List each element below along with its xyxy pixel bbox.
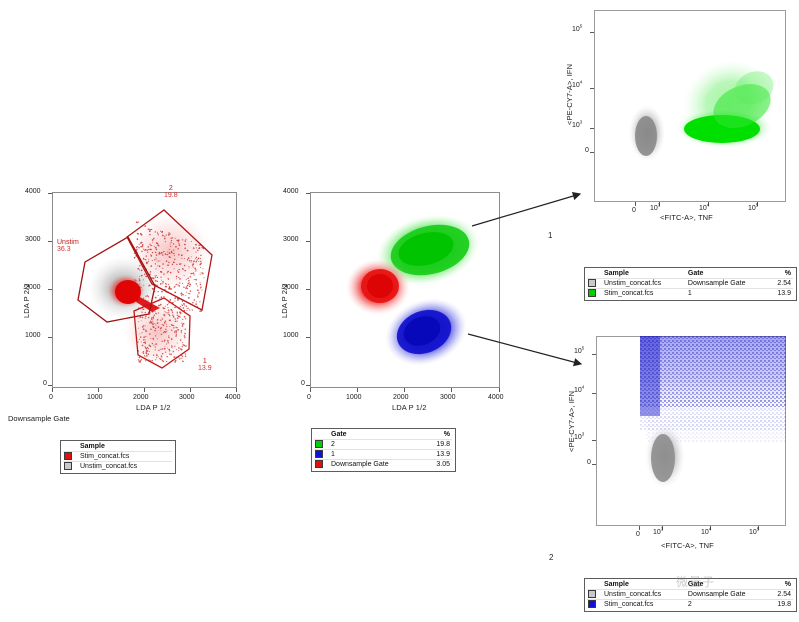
mid-ytick-0 (306, 385, 310, 386)
tr-legend-gate-stim: 1 (686, 289, 770, 299)
mid-xtick-4000 (499, 388, 500, 392)
br-legend-pct-stim: 19.8 (770, 600, 793, 610)
left-xtick-3000 (190, 388, 191, 392)
tr-xtick-0 (635, 202, 636, 206)
tr-legend-sample-unstim: Unstim_concat.fcs (602, 279, 686, 289)
left-ytick-3000 (48, 241, 52, 242)
mid-legend-swatch-gate1 (314, 450, 329, 460)
topright-plot-svg (594, 10, 786, 202)
br-legend-swatch-stim (587, 600, 602, 610)
left-legend-swatch-stim (63, 452, 78, 462)
mid-legend-gate-downsample: Downsample Gate (329, 460, 426, 470)
tr-xlabel-1e4: 104 (699, 205, 709, 212)
table-row[interactable]: 1 13.9 (314, 450, 452, 460)
br-legend-gate-unstim: Downsample Gate (686, 590, 770, 600)
left-gate-label-1: 1 13.9 (198, 358, 212, 373)
left-xlabel-4000: 4000 (225, 394, 241, 401)
left-legend-swatch-header (63, 443, 78, 452)
mid-ytick-1000 (306, 337, 310, 338)
left-ytick-1000 (48, 337, 52, 338)
left-xlabel-0: 0 (49, 394, 53, 401)
mid-xlabel-2000: 2000 (393, 394, 409, 401)
mid-legend-gate2: 2 (329, 440, 426, 450)
topright-x-axis-title: <FITC-A>, TNF (660, 213, 713, 222)
tr-ylabel-0: 0 (585, 147, 589, 154)
middle-scatter-plot[interactable]: 4000 3000 2000 1000 0 0 1000 2000 3000 4… (310, 192, 500, 388)
bottomright-scatter-plot[interactable]: 105 104 103 0 0 103 104 105 (596, 336, 786, 526)
mid-legend-pct-header: % (426, 431, 452, 440)
tr-legend-pct-unstim: 2.54 (770, 279, 793, 289)
left-legend[interactable]: Sample Stim_concat.fcs Unstim_concat.fcs (60, 440, 176, 474)
br-legend-sample-unstim: Unstim_concat.fcs (602, 590, 686, 600)
mid-ylabel-0: 0 (301, 380, 305, 387)
tr-legend-pct-header: % (770, 270, 793, 279)
tr-legend-swatch-unstim (587, 279, 602, 289)
br-xlabel-0: 0 (636, 531, 640, 538)
left-ylabel-4000: 4000 (25, 188, 41, 195)
tr-ytick-1e4 (590, 88, 594, 89)
left-ylabel-1000: 1000 (25, 332, 41, 339)
left-gate2-pct: 19.8 (164, 192, 178, 199)
br-ylabel-1e5: 105 (574, 348, 584, 355)
mid-xtick-1000 (357, 388, 358, 392)
br-legend-swatch-unstim (587, 590, 602, 600)
tr-legend-swatch-stim (587, 289, 602, 299)
mid-ytick-2000 (306, 289, 310, 290)
tr-legend-gate-unstim: Downsample Gate (686, 279, 770, 289)
br-xtick-0 (639, 526, 640, 530)
middle-plot-svg (310, 192, 500, 388)
tr-xlabel-1e5: 105 (748, 205, 758, 212)
br-xlabel-1e5: 105 (749, 529, 759, 536)
mid-ytick-3000 (306, 241, 310, 242)
bottomright-legend[interactable]: Sample Gate % Unstim_concat.fcs Downsamp… (584, 578, 797, 612)
left-legend-label-stim: Stim_concat.fcs (78, 452, 172, 462)
tr-legend-sample-header: Sample (602, 270, 686, 279)
left-plot-caption: Downsample Gate (8, 414, 70, 423)
left-gate-unstim-name: Unstim (57, 239, 79, 246)
bottomright-plot-canvas (596, 336, 786, 526)
left-gate-label-2: 2 19.8 (164, 185, 178, 200)
br-ytick-1e3 (592, 440, 596, 441)
left-ytick-4000 (48, 193, 52, 194)
left-ylabel-0: 0 (43, 380, 47, 387)
left-xlabel-3000: 3000 (179, 394, 195, 401)
bottomright-plot-svg (596, 336, 786, 526)
middle-x-axis-title: LDA P 1/2 (392, 403, 427, 412)
bottomright-x-axis-title: <FITC-A>, TNF (661, 541, 714, 550)
mid-legend-gate1: 1 (329, 450, 426, 460)
mid-legend-pct2: 19.8 (426, 440, 452, 450)
mid-legend-gate-header: Gate (329, 431, 426, 440)
br-ytick-1e5 (592, 354, 596, 355)
mid-ylabel-4000: 4000 (283, 188, 299, 195)
br-legend-swatch-header (587, 581, 602, 590)
table-row[interactable]: Unstim_concat.fcs Downsample Gate 2.54 (587, 279, 793, 289)
left-xlabel-1000: 1000 (87, 394, 103, 401)
tr-legend-gate-header: Gate (686, 270, 770, 279)
br-legend-gate-stim: 2 (686, 600, 770, 610)
tr-legend-swatch-header (587, 270, 602, 279)
mid-xtick-2000 (404, 388, 405, 392)
left-ylabel-3000: 3000 (25, 236, 41, 243)
topright-scatter-plot[interactable]: 105 104 103 0 0 103 104 105 (594, 10, 786, 202)
table-row[interactable]: Stim_concat.fcs 2 19.8 (587, 600, 793, 610)
left-xtick-1000 (98, 388, 99, 392)
table-row[interactable]: 2 19.8 (314, 440, 452, 450)
br-ytick-0 (592, 464, 596, 465)
left-x-axis-title: LDA P 1/2 (136, 403, 171, 412)
table-row[interactable]: Downsample Gate 3.05 (314, 460, 452, 470)
br-legend-sample-stim: Stim_concat.fcs (602, 600, 686, 610)
table-row[interactable]: Stim_concat.fcs (63, 452, 172, 462)
bottomright-plot-number: 2 (549, 553, 553, 562)
topright-plot-number: 1 (548, 231, 552, 240)
br-xlabel-1e3: 103 (653, 529, 663, 536)
tr-ytick-1e5 (590, 32, 594, 33)
left-gate-label-unstim: Unstim 36.3 (57, 239, 79, 254)
middle-y-axis-title: LDA P 2/2 (280, 283, 289, 318)
left-xtick-2000 (144, 388, 145, 392)
table-row[interactable]: Unstim_concat.fcs (63, 462, 172, 472)
left-y-axis-title: LDA P 2/2 (22, 283, 31, 318)
left-xtick-0 (52, 388, 53, 392)
br-xlabel-1e4: 104 (701, 529, 711, 536)
mid-xtick-0 (310, 388, 311, 392)
mid-ylabel-1000: 1000 (283, 332, 299, 339)
left-scatter-plot[interactable]: 4000 3000 2000 1000 0 0 1000 2000 3000 4… (52, 192, 237, 388)
left-gate1-pct: 13.9 (198, 365, 212, 372)
tr-legend-pct-stim: 13.9 (770, 289, 793, 299)
mid-legend-pct-downsample: 3.05 (426, 460, 452, 470)
br-ylabel-0: 0 (587, 459, 591, 466)
left-ytick-2000 (48, 289, 52, 290)
br-ytick-1e4 (592, 393, 596, 394)
mid-ytick-4000 (306, 193, 310, 194)
mid-xlabel-0: 0 (307, 394, 311, 401)
mid-xlabel-1000: 1000 (346, 394, 362, 401)
mid-legend-swatch-gate2 (314, 440, 329, 450)
br-legend-pct-unstim: 2.54 (770, 590, 793, 600)
tr-ytick-0 (590, 152, 594, 153)
table-row[interactable]: Unstim_concat.fcs Downsample Gate 2.54 (587, 590, 793, 600)
br-legend-gate-header: Gate (686, 581, 770, 590)
br-legend-sample-header: Sample (602, 581, 686, 590)
mid-xlabel-3000: 3000 (440, 394, 456, 401)
left-gate2-name: 2 (164, 185, 178, 192)
left-legend-sample-header: Sample (78, 443, 172, 452)
left-ytick-0 (48, 385, 52, 386)
tr-xlabel-1e3: 103 (650, 205, 660, 212)
tr-ytick-1e3 (590, 128, 594, 129)
topright-y-axis-title: <PE-CY7-A>, IFN (565, 64, 574, 125)
left-xlabel-2000: 2000 (133, 394, 149, 401)
mid-legend-pct1: 13.9 (426, 450, 452, 460)
tr-xlabel-0: 0 (632, 207, 636, 214)
tr-legend-sample-stim: Stim_concat.fcs (602, 289, 686, 299)
mid-legend-swatch-header (314, 431, 329, 440)
tr-ylabel-1e5: 105 (572, 26, 582, 33)
br-legend-pct-header: % (770, 581, 793, 590)
left-gate-unstim-pct: 36.3 (57, 246, 79, 253)
mid-legend-swatch-downsample (314, 460, 329, 470)
table-row[interactable]: Stim_concat.fcs 1 13.9 (587, 289, 793, 299)
left-xtick-4000 (236, 388, 237, 392)
mid-xlabel-4000: 4000 (488, 394, 504, 401)
bottomright-y-axis-title: <PE-CY7-A>, IFN (567, 391, 576, 452)
topright-legend[interactable]: Sample Gate % Unstim_concat.fcs Downsamp… (584, 267, 797, 301)
mid-ylabel-3000: 3000 (283, 236, 299, 243)
middle-plot-canvas (310, 192, 500, 388)
left-gate1-name: 1 (198, 358, 212, 365)
middle-legend[interactable]: Gate % 2 19.8 1 13.9 Downsample Gate 3.0… (311, 428, 456, 472)
mid-xtick-3000 (451, 388, 452, 392)
topright-plot-canvas (594, 10, 786, 202)
left-legend-swatch-unstim (63, 462, 78, 472)
left-legend-label-unstim: Unstim_concat.fcs (78, 462, 172, 472)
